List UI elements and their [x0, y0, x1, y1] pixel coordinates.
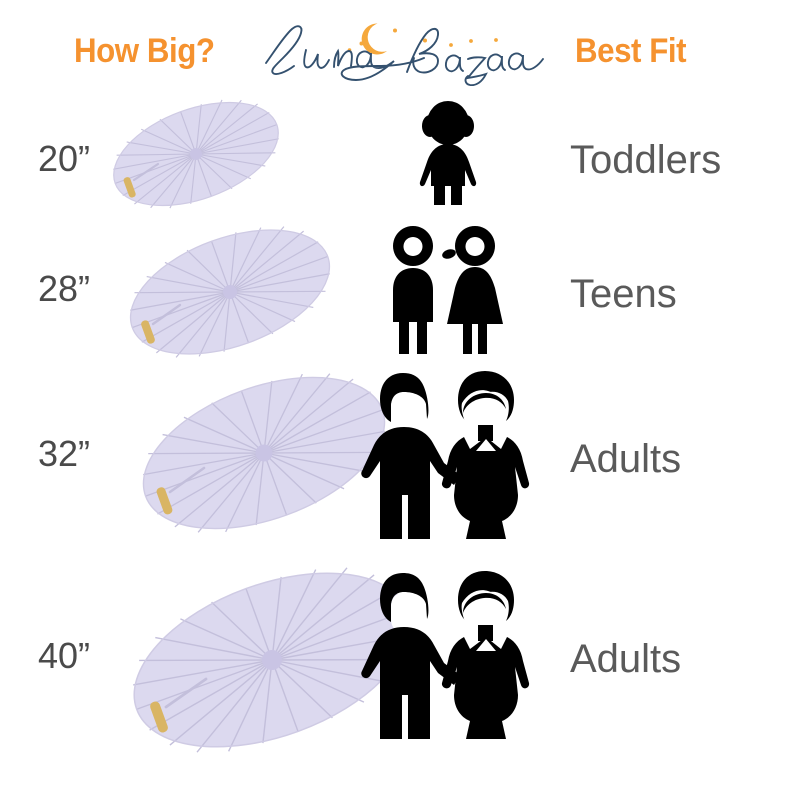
parasol-illustration-28: [110, 218, 350, 368]
parasol-illustration-20: [96, 92, 296, 217]
size-row: 28”: [0, 210, 800, 365]
fit-label-adults-32: Adults: [570, 437, 795, 482]
column-header-best-fit: Best Fit: [575, 32, 686, 71]
teen-couple-pictogram: [375, 222, 515, 357]
fit-label-adults-40: Adults: [570, 637, 795, 682]
size-row: 20”: [0, 90, 800, 220]
toddler-girl-pictogram: [398, 100, 498, 205]
size-row: 40”: [0, 545, 800, 780]
crescent-moon-icon: [362, 23, 387, 54]
chart-header: How Big? Luna Bazaar: [0, 0, 800, 92]
size-row: 32”: [0, 355, 800, 555]
parasol-size-chart: How Big? Luna Bazaar: [0, 0, 800, 800]
fit-label-toddlers: Toddlers: [570, 138, 795, 183]
column-header-how-big: How Big?: [74, 32, 215, 71]
adult-couple-pictogram: [358, 367, 530, 545]
adult-couple-pictogram: [358, 567, 530, 745]
brand-logo: Luna Bazaar: [258, 14, 548, 86]
fit-label-teens: Teens: [570, 272, 795, 317]
